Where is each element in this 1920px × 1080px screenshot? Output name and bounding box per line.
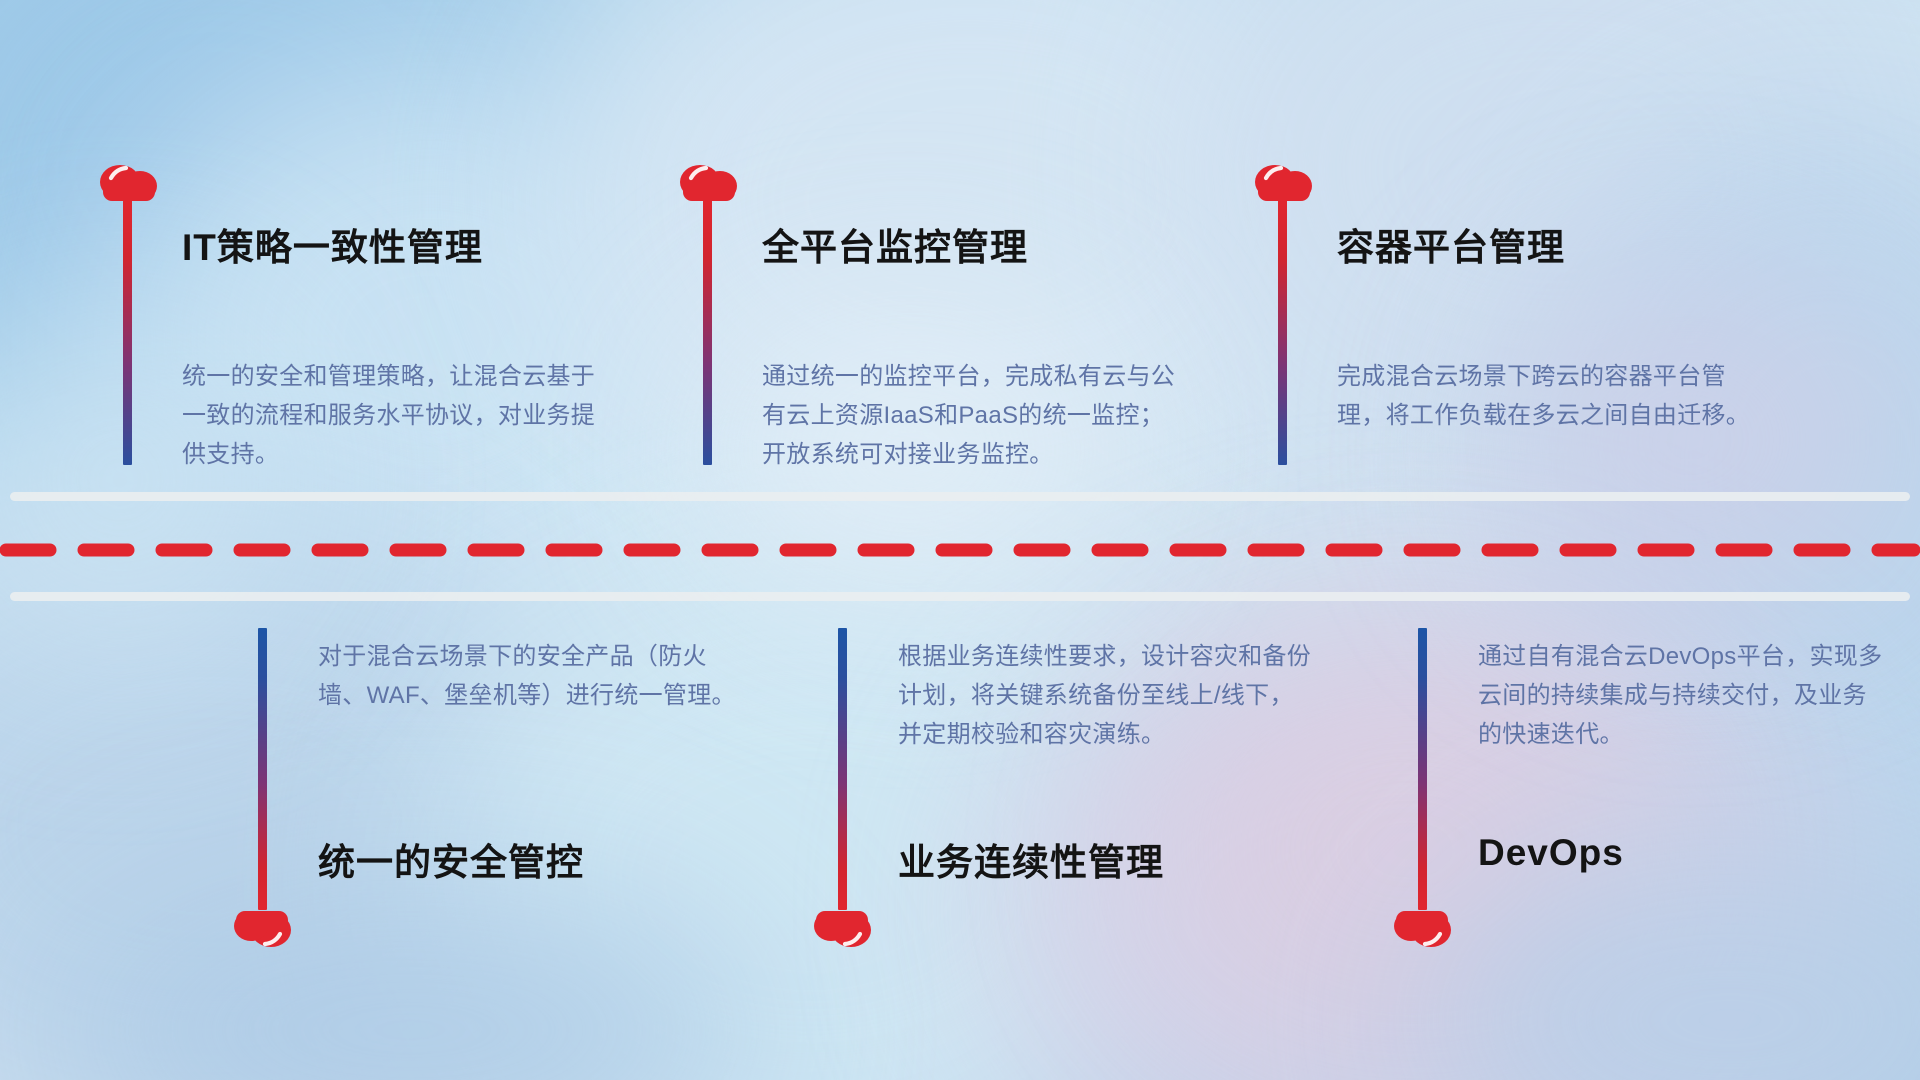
cloud-icon <box>230 902 296 952</box>
red-dashed-line <box>0 543 1920 557</box>
feature-description: 根据业务连续性要求，设计容灾和备份计划，将关键系统备份至线上/线下，并定期校验和… <box>898 638 1318 755</box>
feature-title: DevOps <box>1478 832 1624 874</box>
divider-rule-top <box>10 492 1910 501</box>
divider-rule-bottom <box>10 592 1910 601</box>
connector-bar <box>1278 200 1287 465</box>
connector-bar <box>258 628 267 910</box>
feature-description: 完成混合云场景下跨云的容器平台管理，将工作负载在多云之间自由迁移。 <box>1337 358 1767 436</box>
connector-bar <box>1418 628 1427 910</box>
connector-bar <box>123 200 132 465</box>
feature-description: 通过自有混合云DevOps平台，实现多云间的持续集成与持续交付，及业务的快速迭代… <box>1478 638 1888 755</box>
connector-bar <box>838 628 847 910</box>
feature-description: 对于混合云场景下的安全产品（防火墙、WAF、堡垒机等）进行统一管理。 <box>318 638 738 716</box>
feature-title: 容器平台管理 <box>1337 217 1565 271</box>
cloud-icon <box>1390 902 1456 952</box>
feature-description: 通过统一的监控平台，完成私有云与公有云上资源IaaS和PaaS的统一监控；开放系… <box>762 358 1187 475</box>
feature-title: 全平台监控管理 <box>762 217 1028 271</box>
cloud-icon <box>810 902 876 952</box>
background-blob <box>1480 260 1900 620</box>
feature-title: 业务连续性管理 <box>898 832 1164 886</box>
connector-bar <box>703 200 712 465</box>
feature-description: 统一的安全和管理策略，让混合云基于一致的流程和服务水平协议，对业务提供支持。 <box>182 358 602 475</box>
feature-title: IT策略一致性管理 <box>182 217 483 271</box>
feature-title: 统一的安全管控 <box>318 832 584 886</box>
